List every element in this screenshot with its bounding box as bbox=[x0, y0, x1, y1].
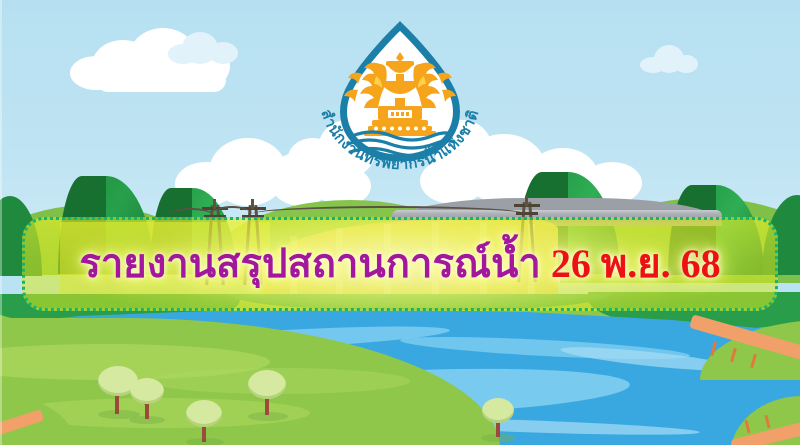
report-title: รายงานสรุปสถานการณ์น้ำ bbox=[79, 241, 541, 286]
tree-2 bbox=[128, 378, 166, 424]
left-edge-highlight bbox=[0, 0, 2, 445]
banner-text-row: รายงานสรุปสถานการณ์น้ำ26 พ.ย. 68 bbox=[79, 244, 720, 284]
agency-logo: สำนักงานทรัพยากรน้ำแห่งชาติ bbox=[300, 18, 500, 170]
tree-3 bbox=[184, 400, 224, 445]
report-title-banner: รายงานสรุปสถานการณ์น้ำ26 พ.ย. 68 bbox=[22, 217, 778, 311]
tree-4 bbox=[246, 370, 288, 420]
report-date: 26 พ.ย. 68 bbox=[541, 241, 721, 286]
report-banner-image: สำนักงานทรัพยากรน้ำแห่งชาติ รายงานสรุปสถ… bbox=[0, 0, 800, 445]
tree-5 bbox=[480, 398, 516, 442]
